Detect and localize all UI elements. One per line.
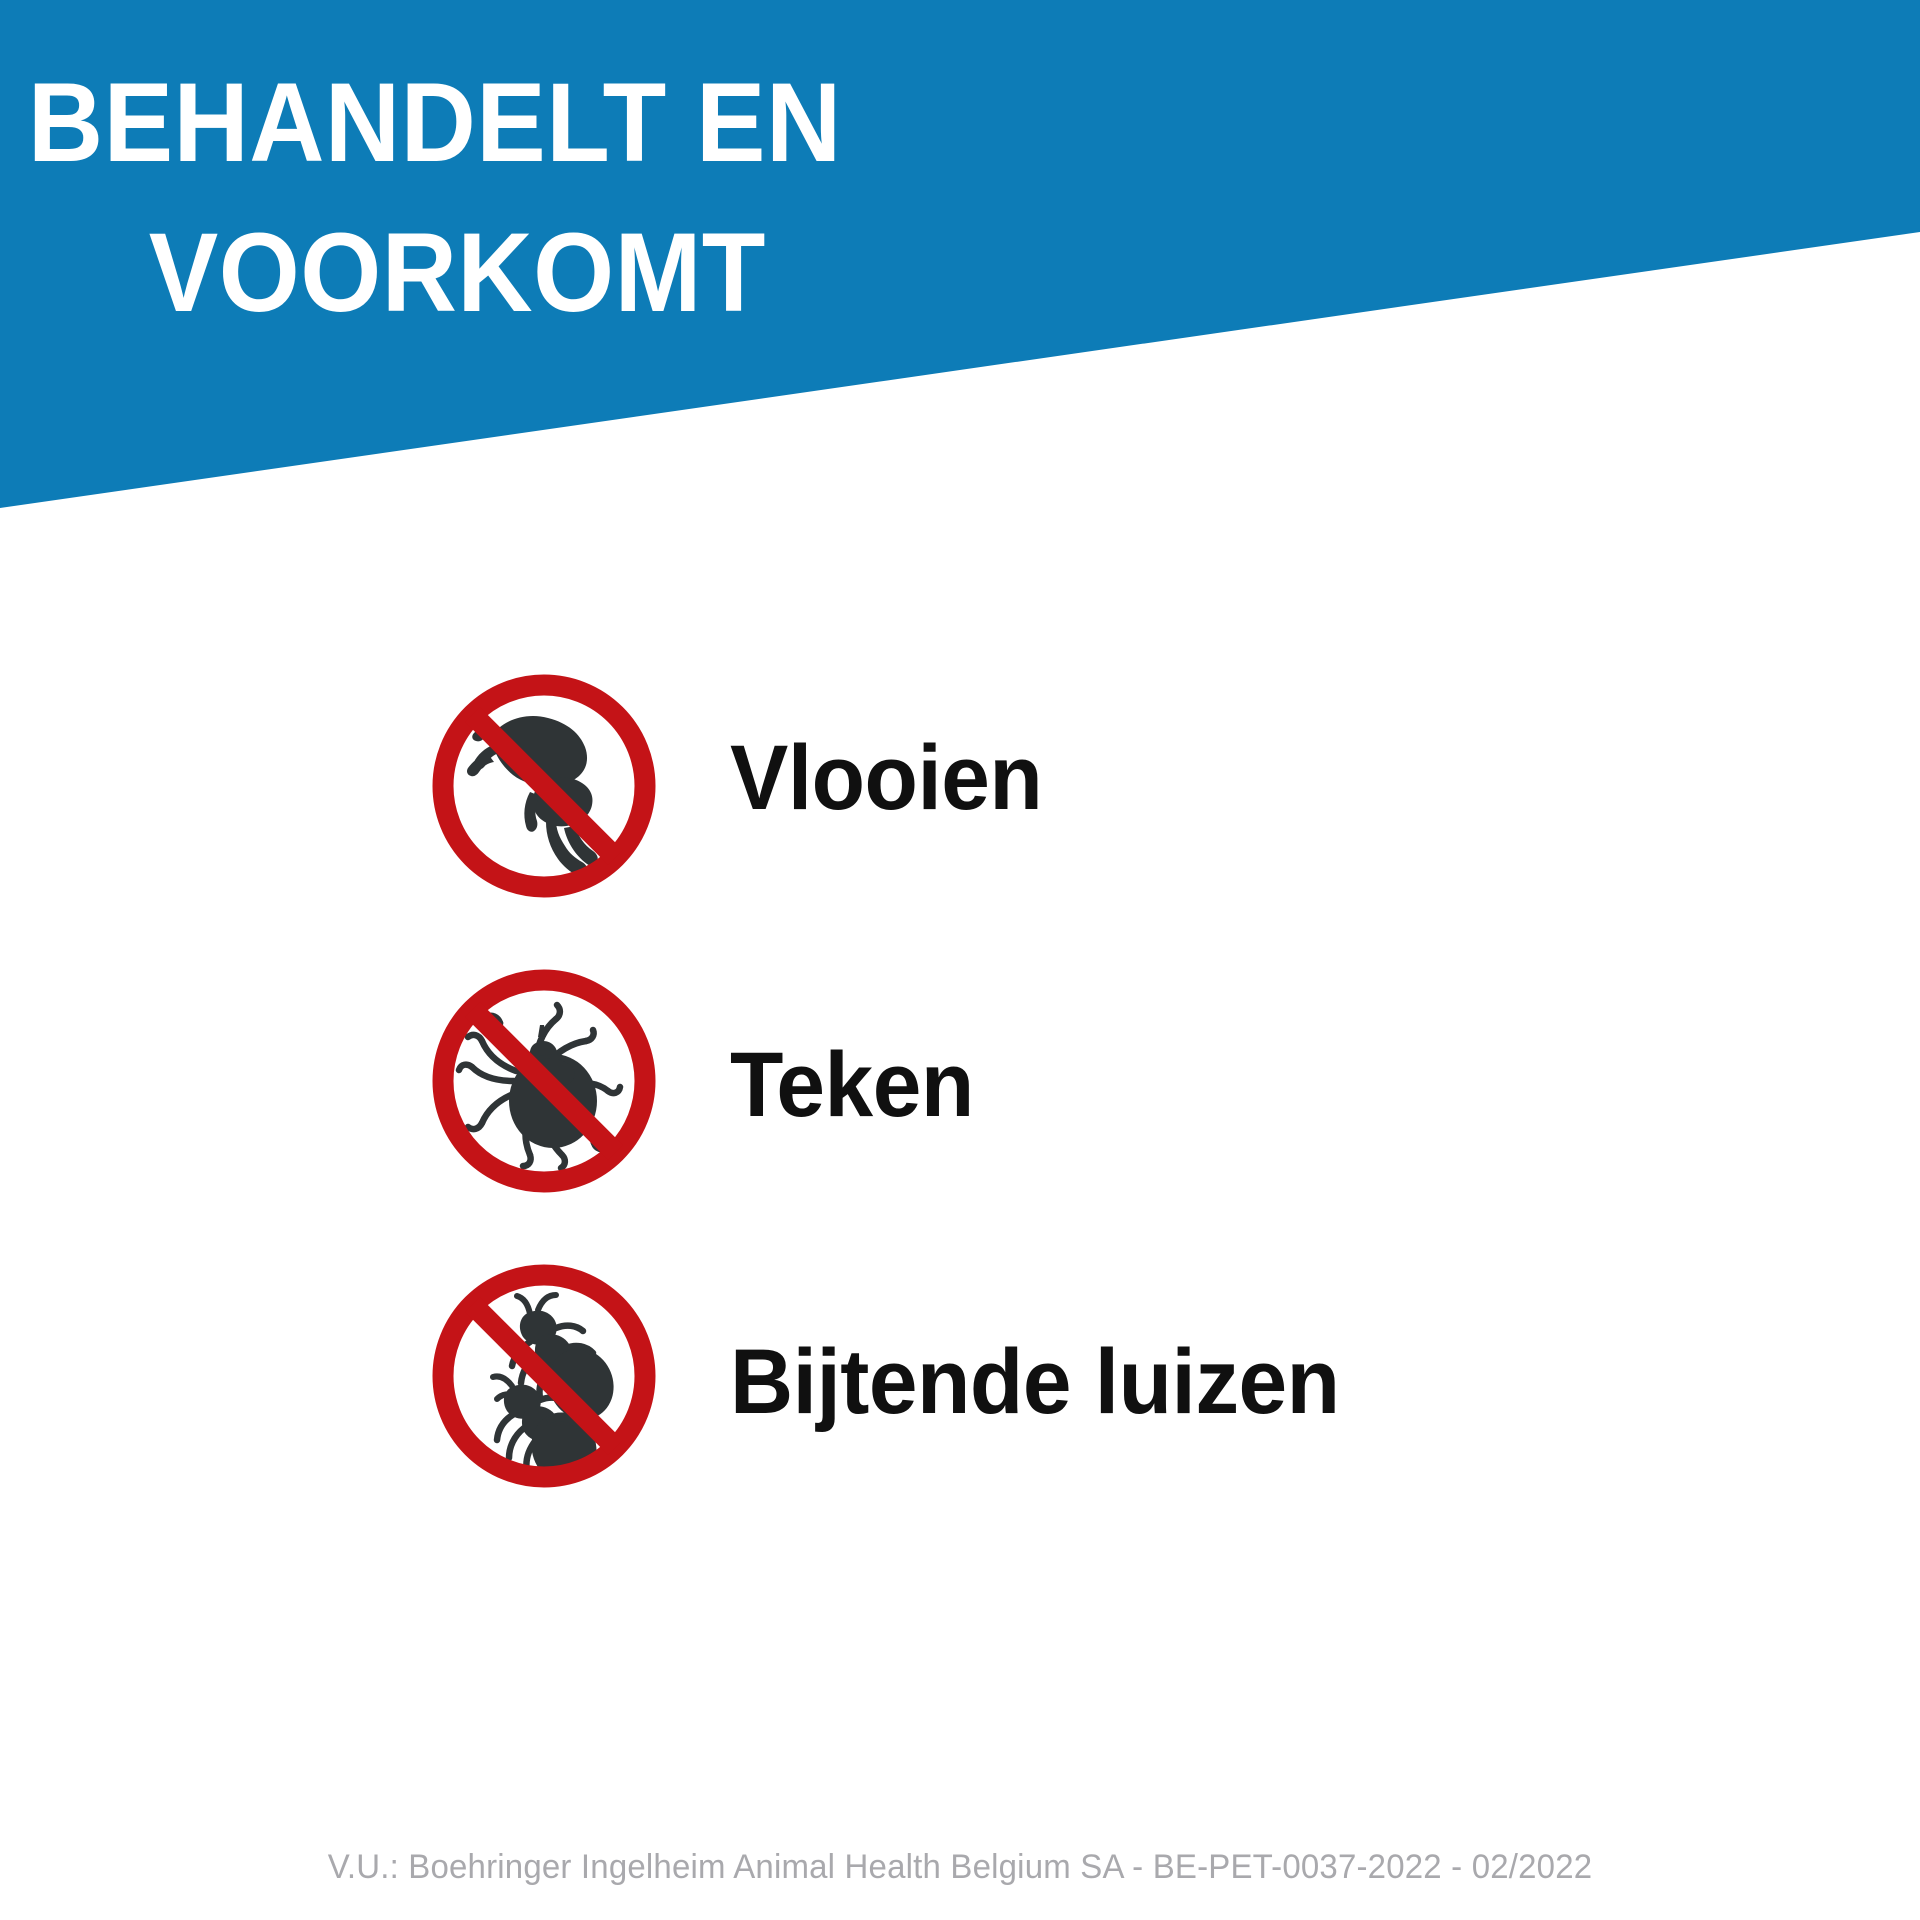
page-title-line-2: VOORKOMT bbox=[0, 198, 1786, 348]
claims-list: Vlooien bbox=[430, 672, 1730, 1557]
list-item: Bijtende luizen bbox=[430, 1262, 1730, 1557]
prohibition-lice-icon bbox=[430, 1262, 658, 1490]
poster-root: BEHANDELT EN VOORKOMT bbox=[0, 0, 1920, 1920]
claim-label: Teken bbox=[730, 1029, 974, 1141]
claim-label: Vlooien bbox=[730, 722, 1042, 834]
claim-label: Bijtende luizen bbox=[730, 1326, 1340, 1438]
prohibition-flea-icon bbox=[430, 672, 658, 900]
page-title-line-1: BEHANDELT EN bbox=[0, 0, 1786, 198]
page-title: BEHANDELT EN VOORKOMT bbox=[0, 0, 1786, 348]
list-item: Vlooien bbox=[430, 672, 1730, 967]
footer-legal-text: V.U.: Boehringer Ingelheim Animal Health… bbox=[29, 1845, 1891, 1889]
prohibition-tick-icon bbox=[430, 967, 658, 1195]
list-item: Teken bbox=[430, 967, 1730, 1262]
